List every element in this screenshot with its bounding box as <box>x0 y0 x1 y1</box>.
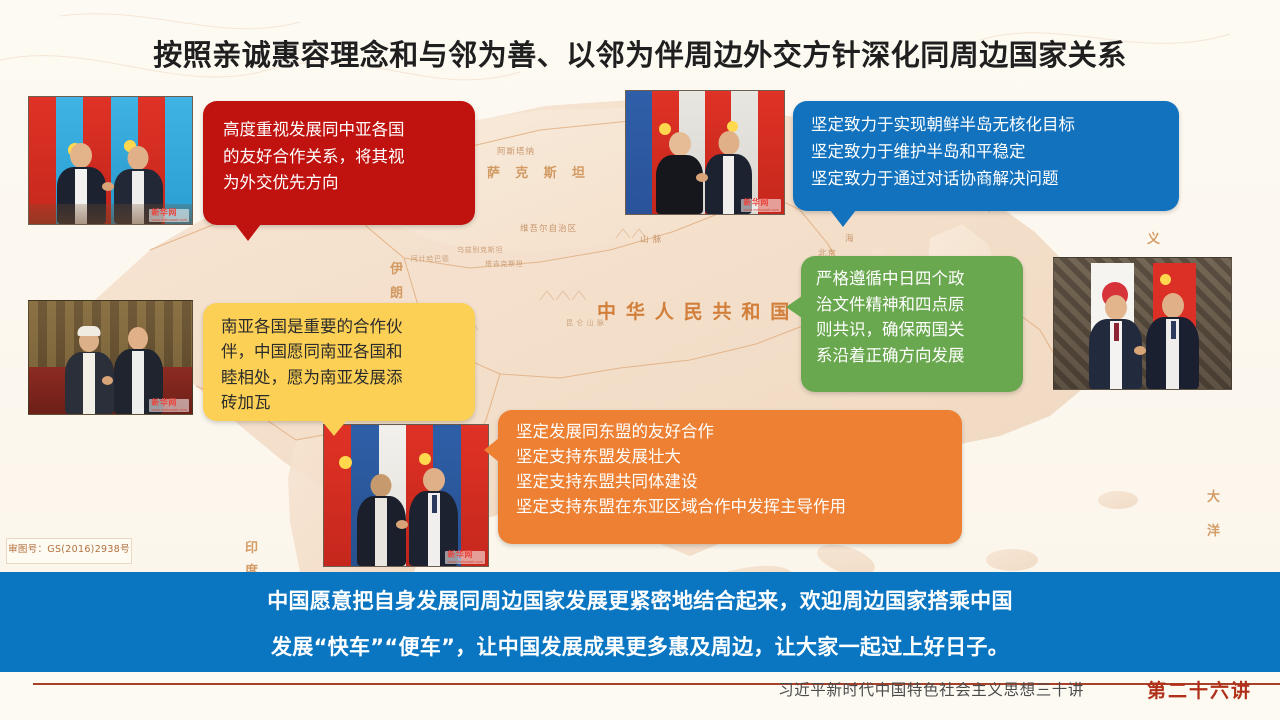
handshake <box>102 376 113 385</box>
handshake <box>1134 346 1146 355</box>
footer-lecture-number: 第二十六讲 <box>1147 676 1252 703</box>
head <box>669 132 691 156</box>
head <box>70 143 92 168</box>
slide-root: 中华人民共和国 萨 克 斯 坦阿斯塔纳维吾尔自治区乌兹别克斯坦阿什哈巴德塔吉克斯… <box>0 0 1280 720</box>
suit <box>656 155 703 214</box>
callout-line: 为外交优先方向 <box>223 170 457 197</box>
watermark: 新华网www.xinhuanet.com <box>149 399 189 412</box>
footer-series-title: 习近平新时代中国特色社会主义思想三十讲 <box>778 678 1084 700</box>
head <box>718 131 739 155</box>
callout-line: 伴，中国愿同南亚各国和 <box>221 339 459 364</box>
shirt <box>375 498 387 566</box>
callout-line: 的友好合作关系，将其视 <box>223 144 457 171</box>
watermark: 新华网www.xinhuanet.com <box>741 199 781 212</box>
callout-line: 坚定支持东盟在东亚区域合作中发挥主导作用 <box>516 494 946 519</box>
callout-line: 则共识，确保两国关 <box>816 317 1009 343</box>
callout-line: 坚定致力于通过对话协商解决问题 <box>811 166 1163 193</box>
head <box>423 468 445 492</box>
callout-korea: 坚定致力于实现朝鲜半岛无核化目标 坚定致力于维护半岛和平稳定 坚定致力于通过对话… <box>793 101 1179 211</box>
shirt <box>723 156 734 214</box>
slide-title: 按照亲诚惠容理念和与邻为善、以邻为伴周边外交方针深化同周边国家关系 <box>0 32 1280 74</box>
head <box>371 474 392 497</box>
map-approval-number: 审图号：GS(2016)2938号 <box>6 538 132 564</box>
callout-line: 系沿着正确方向发展 <box>816 343 1009 369</box>
photo-asean: 新华网www.xinhuanet.com <box>323 424 489 567</box>
callout-line: 坚定发展同东盟的友好合作 <box>516 419 946 444</box>
banner-line-1: 中国愿意把自身发展同周边国家发展更紧密地结合起来，欢迎周边国家搭乘中国 <box>0 578 1280 624</box>
figure-right <box>1146 295 1199 389</box>
callout-line: 坚定致力于实现朝鲜半岛无核化目标 <box>811 112 1163 139</box>
callout-line: 睦相处，愿为南亚发展添 <box>221 365 459 390</box>
callout-tail <box>484 438 499 462</box>
watermark: 新华网www.xinhuanet.com <box>149 209 189 222</box>
shirt <box>132 351 144 414</box>
callout-line: 高度重视发展同中亚各国 <box>223 117 457 144</box>
handshake <box>696 173 708 182</box>
callout-tail <box>786 296 802 318</box>
figure-left <box>1089 297 1142 389</box>
photo-japan <box>1053 257 1232 390</box>
head <box>128 146 149 170</box>
footer-bar <box>0 672 1280 720</box>
figure-left <box>65 333 114 414</box>
bottom-banner: 中国愿意把自身发展同周边国家发展更紧密地结合起来，欢迎周边国家搭乘中国 发展“快… <box>0 572 1280 672</box>
kurta <box>83 353 95 414</box>
head <box>128 327 148 350</box>
callout-line: 坚定支持东盟发展壮大 <box>516 444 946 469</box>
photo-central-asia: 新华网www.xinhuanet.com <box>28 96 193 225</box>
banner-line-2: 发展“快车”“便车”，让中国发展成果更多惠及周边，让大家一起过上好日子。 <box>0 624 1280 670</box>
head <box>1162 293 1184 318</box>
watermark: 新华网www.xinhuanet.com <box>445 551 485 564</box>
flag-backdrop <box>324 425 488 566</box>
photo-south-asia: 新华网www.xinhuanet.com <box>28 300 193 415</box>
callout-line: 砖加瓦 <box>221 390 459 415</box>
callout-tail <box>235 224 261 241</box>
callout-line: 南亚各国是重要的合作伙 <box>221 314 459 339</box>
callout-line: 坚定致力于维护半岛和平稳定 <box>811 139 1163 166</box>
head <box>1105 295 1127 320</box>
callout-line: 治文件精神和四点原 <box>816 292 1009 318</box>
callout-central-asia: 高度重视发展同中亚各国 的友好合作关系，将其视 为外交优先方向 <box>203 101 475 225</box>
callout-asean: 坚定发展同东盟的友好合作 坚定支持东盟发展壮大 坚定支持东盟共同体建设 坚定支持… <box>498 410 962 544</box>
photo-korea: 新华网www.xinhuanet.com <box>625 90 785 215</box>
callout-line: 严格遵循中日四个政 <box>816 266 1009 292</box>
callout-line: 坚定支持东盟共同体建设 <box>516 469 946 494</box>
callout-south-asia: 南亚各国是重要的合作伙 伴，中国愿同南亚各国和 睦相处，愿为南亚发展添 砖加瓦 <box>203 303 475 421</box>
callout-tail <box>830 210 856 227</box>
callout-tail <box>321 420 347 436</box>
callout-japan: 严格遵循中日四个政 治文件精神和四点原 则共识，确保两国关 系沿着正确方向发展 <box>801 256 1023 392</box>
footer-divider <box>33 683 1280 685</box>
